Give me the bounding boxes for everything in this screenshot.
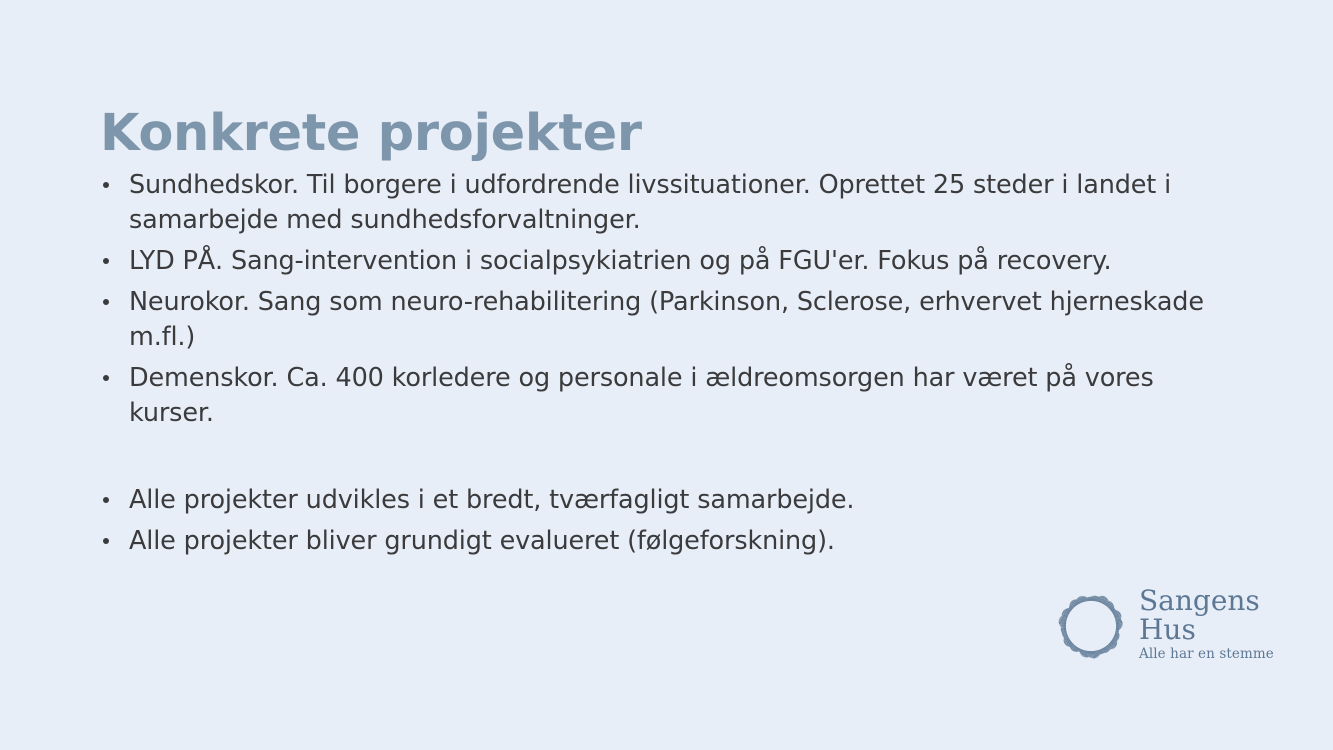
sangens-hus-logo: Sangens Hus Alle har en stemme bbox=[1053, 586, 1268, 672]
bullet-dot-icon bbox=[103, 182, 109, 188]
bullet-dot-icon bbox=[103, 299, 109, 305]
logo-tagline: Alle har en stemme bbox=[1139, 646, 1269, 663]
bullet-text: LYD PÅ. Sang-intervention i socialpsykia… bbox=[129, 244, 1235, 279]
circular-waveform-icon bbox=[1053, 588, 1129, 664]
list-item: Sundhedskor. Til borgere i udfordrende l… bbox=[100, 168, 1235, 238]
bullet-text: Neurokor. Sang som neuro-rehabilitering … bbox=[129, 285, 1235, 355]
bullet-text: Demenskor. Ca. 400 korledere og personal… bbox=[129, 361, 1235, 431]
bullet-text: Alle projekter udvikles i et bredt, tvær… bbox=[129, 483, 1235, 518]
bullet-dot-icon bbox=[103, 258, 109, 264]
bullet-dot-icon bbox=[103, 538, 109, 544]
list-item: Demenskor. Ca. 400 korledere og personal… bbox=[100, 361, 1235, 431]
list-item: LYD PÅ. Sang-intervention i socialpsykia… bbox=[100, 244, 1235, 279]
bullet-text: Sundhedskor. Til borgere i udfordrende l… bbox=[129, 168, 1235, 238]
bullet-dot-icon bbox=[103, 497, 109, 503]
list-item: Alle projekter udvikles i et bredt, tvær… bbox=[100, 483, 1235, 518]
list-item: Alle projekter bliver grundigt evalueret… bbox=[100, 524, 1235, 559]
bullet-list: Sundhedskor. Til borgere i udfordrende l… bbox=[100, 168, 1235, 565]
logo-name-line1: Sangens bbox=[1139, 586, 1269, 615]
list-item: Neurokor. Sang som neuro-rehabilitering … bbox=[100, 285, 1235, 355]
bullet-text: Alle projekter bliver grundigt evalueret… bbox=[129, 524, 1235, 559]
logo-wordmark: Sangens Hus Alle har en stemme bbox=[1139, 586, 1269, 663]
page-title: Konkrete projekter bbox=[100, 108, 642, 159]
bullet-dot-icon bbox=[103, 375, 109, 381]
logo-name-line2: Hus bbox=[1139, 615, 1269, 644]
presentation-slide: Konkrete projekter Sundhedskor. Til borg… bbox=[0, 0, 1333, 750]
